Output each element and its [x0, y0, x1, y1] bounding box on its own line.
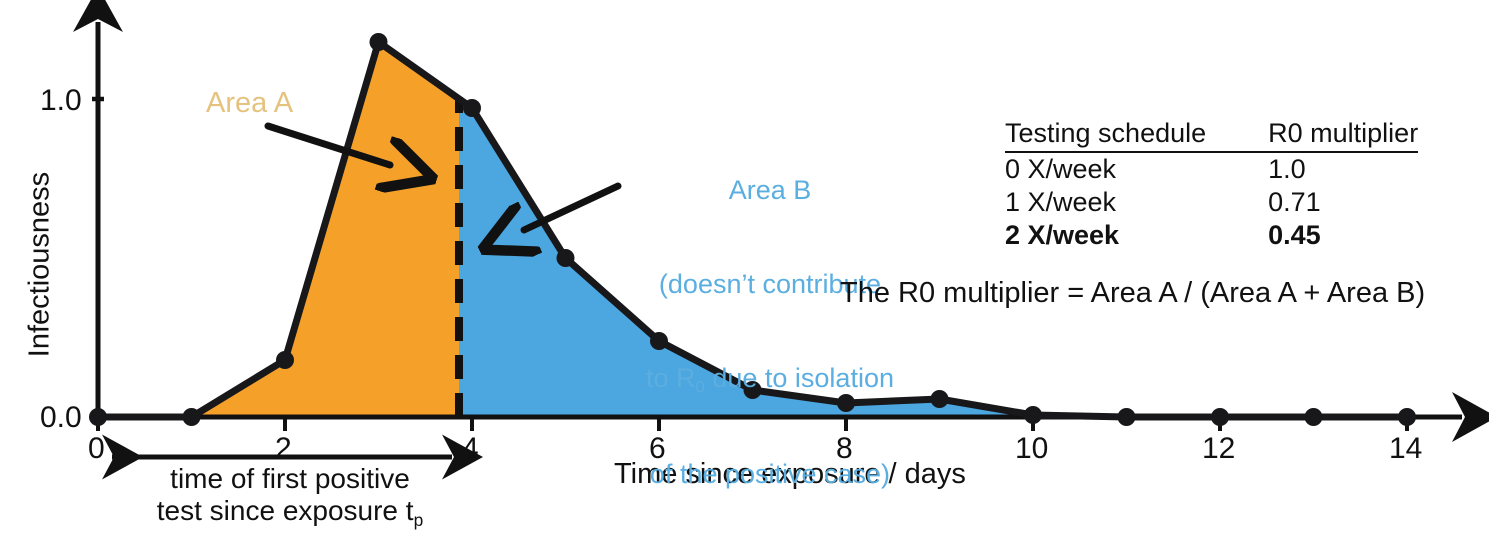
x-tick-label-14: 14: [1389, 434, 1422, 464]
area-b-label-line3-post: due to isolation: [705, 363, 894, 393]
y-axis-title: Infectiousness: [26, 145, 55, 385]
tp-caption-line2-sub: p: [414, 510, 424, 530]
table-row-highlighted: 2 X/week 0.45: [1005, 219, 1418, 252]
y-tick-label-1: 1.0: [40, 86, 82, 116]
table-cell-schedule: 2 X/week: [1005, 219, 1206, 252]
area-b-label-line1: Area B: [608, 175, 932, 206]
area-a-label: Area A: [206, 89, 293, 118]
table-cell-multiplier: 0.45: [1206, 219, 1418, 252]
table-cell-schedule: 0 X/week: [1005, 152, 1206, 186]
tp-bracket-caption: time of first positive test since exposu…: [140, 463, 440, 531]
table-row: 1 X/week 0.71: [1005, 186, 1418, 219]
table-row: 0 X/week 1.0: [1005, 152, 1418, 186]
figure-canvas: Infectiousness 1.0 0.0 0 2 4 6 8 10 12 1…: [0, 0, 1489, 539]
r0-multiplier-formula: The R0 multiplier = Area A / (Area A + A…: [840, 277, 1425, 310]
table-cell-multiplier: 0.71: [1206, 186, 1418, 219]
x-tick-label-2: 2: [275, 434, 292, 464]
x-tick-label-10: 10: [1015, 434, 1048, 464]
tp-caption-line1: time of first positive: [140, 463, 440, 495]
tp-caption-line2: test since exposure tp: [140, 495, 440, 531]
area-b-label-line4: of the positive case): [608, 459, 932, 490]
y-tick-label-0: 0.0: [40, 403, 82, 433]
table-cell-schedule: 1 X/week: [1005, 186, 1206, 219]
area-b-label-line3-pre: to R: [646, 363, 696, 393]
x-tick-label-0: 0: [88, 434, 105, 464]
area-b-label: Area B (doesn’t contribute to R0 due to …: [608, 112, 932, 553]
table-header-multiplier: R0 multiplier: [1206, 118, 1418, 152]
table-header-schedule: Testing schedule: [1005, 118, 1206, 152]
testing-schedule-table: Testing schedule R0 multiplier 0 X/week …: [1005, 118, 1418, 252]
table-header-row: Testing schedule R0 multiplier: [1005, 118, 1418, 152]
x-tick-label-12: 12: [1202, 434, 1235, 464]
area-b-label-line3-sub: 0: [696, 377, 705, 396]
area-b-label-line3: to R0 due to isolation: [608, 363, 932, 397]
table-cell-multiplier: 1.0: [1206, 152, 1418, 186]
tp-caption-line2-pre: test since exposure t: [157, 495, 414, 526]
x-tick-label-4: 4: [462, 434, 479, 464]
